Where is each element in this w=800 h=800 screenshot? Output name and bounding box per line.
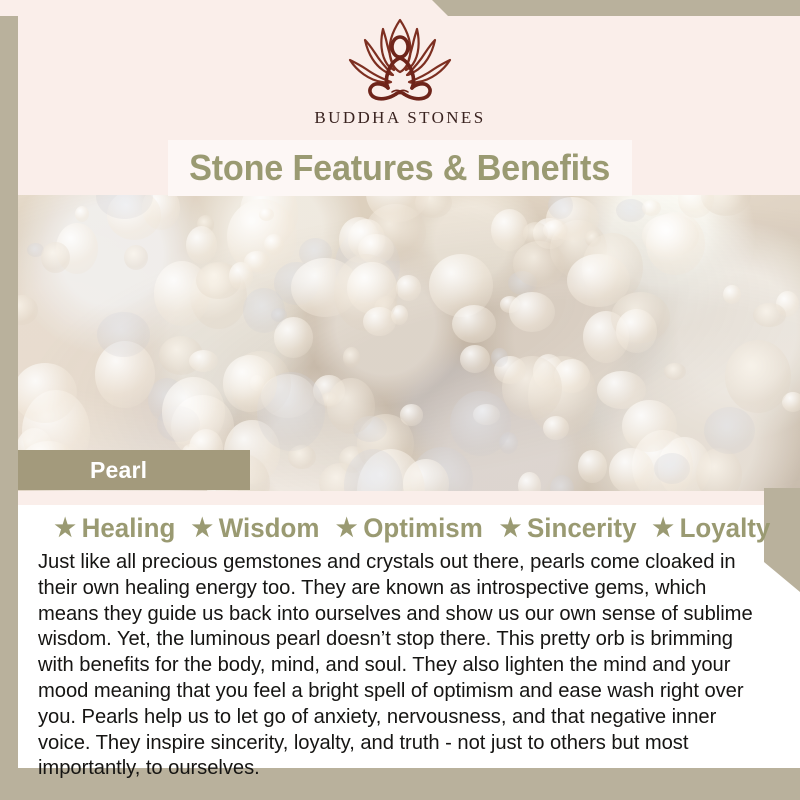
benefit-keyword-sincerity: ★Sincerity [491, 513, 638, 544]
title-banner: Stone Features & Benefits [168, 140, 632, 196]
stone-name-bar: Pearl [18, 450, 250, 490]
benefit-keyword-optimism: ★Optimism [327, 513, 484, 544]
star-icon: ★ [191, 516, 213, 541]
pearl-photo-shading [18, 195, 800, 491]
pearl-photo [18, 195, 800, 491]
benefit-keyword-label: Healing [81, 513, 175, 544]
benefit-keyword-label: Wisdom [218, 513, 319, 544]
decor-band-left [0, 16, 18, 782]
benefit-keyword-label: Sincerity [527, 513, 637, 544]
benefit-keyword-label: Optimism [363, 513, 483, 544]
brand-name: BUDDHA STONES [0, 108, 800, 128]
benefit-keyword-loyalty: ★Loyalty [644, 513, 773, 544]
lotus-meditation-logo-icon [342, 14, 458, 106]
benefit-keyword-label: Loyalty [680, 513, 771, 544]
page-title: Stone Features & Benefits [190, 147, 611, 189]
star-icon: ★ [54, 516, 76, 541]
star-icon: ★ [500, 516, 522, 541]
poster: Pearl [0, 0, 800, 800]
stone-name-label: Pearl [90, 457, 147, 484]
body-paragraph: Just like all precious gemstones and cry… [38, 549, 755, 781]
benefit-keyword-wisdom: ★Wisdom [183, 513, 321, 544]
card-top-accent-strip [18, 491, 800, 505]
benefit-keyword-healing: ★Healing [45, 513, 176, 544]
star-icon: ★ [653, 516, 675, 541]
star-icon: ★ [336, 516, 358, 541]
benefit-keywords-row: ★Healing★Wisdom★Optimism★Sincerity★Loyal… [18, 513, 800, 544]
brand-logo: BUDDHA STONES [0, 14, 800, 128]
